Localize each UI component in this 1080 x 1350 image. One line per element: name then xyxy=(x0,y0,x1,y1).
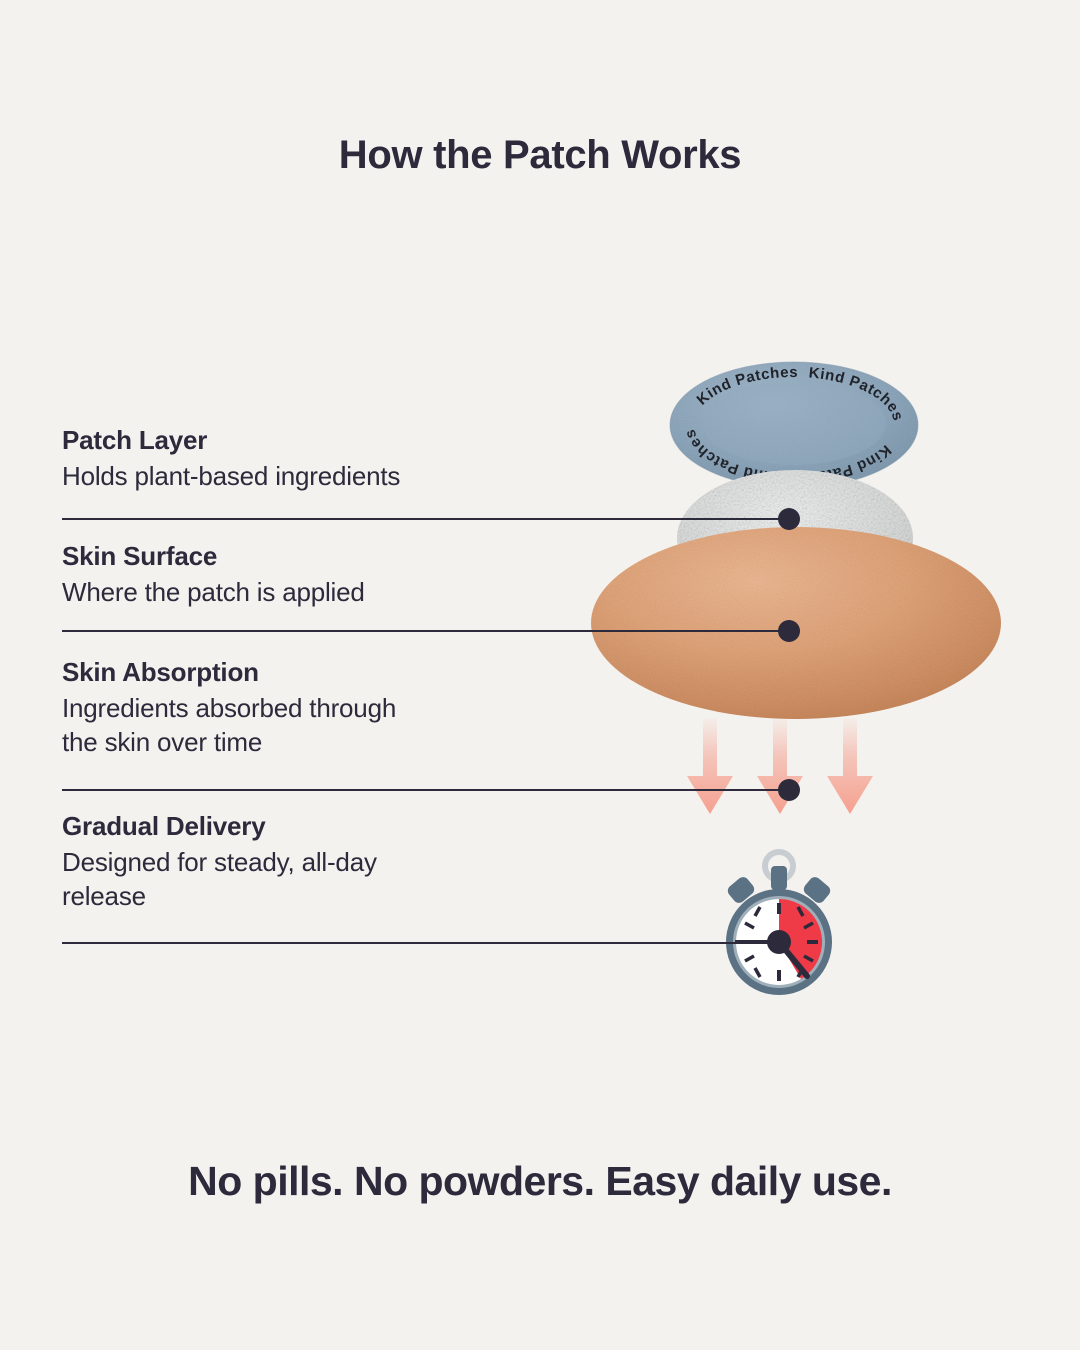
arrow-right xyxy=(827,718,873,814)
leader-dot-1 xyxy=(778,508,800,530)
callout-body: Holds plant-based ingredients xyxy=(62,459,532,493)
stopwatch-icon xyxy=(715,848,843,1000)
leader-line-1 xyxy=(62,518,789,520)
patch-illustration: Kind Patches Kind Patches Kind Patches K… xyxy=(560,340,1030,1020)
callout-body: Ingredients absorbed through the skin ov… xyxy=(62,691,532,760)
absorption-arrows xyxy=(685,718,875,838)
leader-line-3 xyxy=(62,789,789,791)
callout-skin-surface: Skin Surface Where the patch is applied xyxy=(62,542,532,609)
tagline: No pills. No powders. Easy daily use. xyxy=(0,1158,1080,1205)
arrow-center xyxy=(757,718,803,814)
page-title: How the Patch Works xyxy=(0,133,1080,178)
leader-dot-3 xyxy=(778,779,800,801)
leader-dot-2 xyxy=(778,620,800,642)
callout-heading: Skin Absorption xyxy=(62,658,532,687)
callout-heading: Skin Surface xyxy=(62,542,532,571)
arrow-left xyxy=(687,718,733,814)
leader-line-2 xyxy=(62,630,789,632)
callout-skin-absorption: Skin Absorption Ingredients absorbed thr… xyxy=(62,658,532,760)
callout-gradual-delivery: Gradual Delivery Designed for steady, al… xyxy=(62,812,532,914)
callout-patch-layer: Patch Layer Holds plant-based ingredient… xyxy=(62,426,532,493)
callout-body: Where the patch is applied xyxy=(62,575,532,609)
infographic-canvas: How the Patch Works xyxy=(0,0,1080,1350)
callout-heading: Patch Layer xyxy=(62,426,532,455)
callout-heading: Gradual Delivery xyxy=(62,812,532,841)
callout-body: Designed for steady, all-day release xyxy=(62,845,532,914)
leader-line-4 xyxy=(62,942,789,944)
